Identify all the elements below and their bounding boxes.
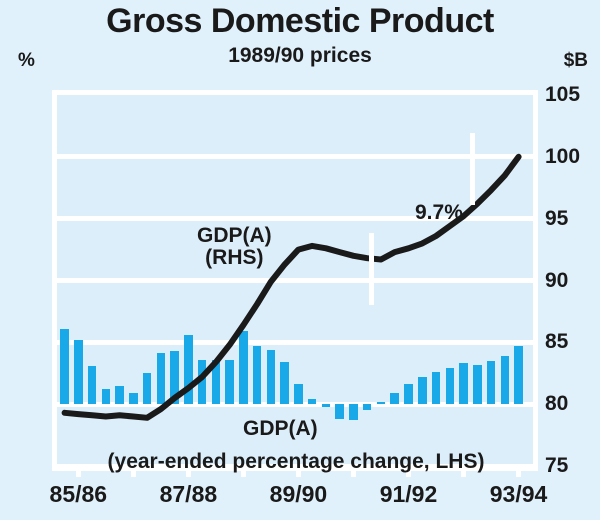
right-axis-tick-label: 90 [545, 269, 568, 293]
plot-area: GDP(A) (RHS) 9.7% GDP(A) (year-ended per… [57, 95, 533, 466]
right-axis-tick-label: 85 [545, 330, 568, 354]
line-series [57, 95, 533, 466]
annotation-gdp-rhs-line2: (RHS) [197, 247, 272, 269]
x-axis-tick-label: 91/92 [380, 481, 438, 508]
annotation-growth-value: 9.7% [415, 201, 463, 225]
chart-canvas: Gross Domestic Product 1989/90 prices % … [0, 0, 600, 520]
gdp-level-line [65, 157, 519, 418]
right-axis-tick-label: 80 [545, 392, 568, 416]
right-axis-unit: $B [564, 50, 588, 72]
chart-title: Gross Domestic Product [0, 2, 600, 41]
x-axis-tick-label: 89/90 [270, 481, 328, 508]
annotation-gdp-rhs-line1: GDP(A) [197, 225, 272, 247]
x-axis-tick-label: 87/88 [160, 481, 218, 508]
x-axis-tick-label: 85/86 [50, 481, 108, 508]
plot-frame-right [533, 90, 538, 471]
right-axis-tick-label: 75 [545, 454, 568, 478]
annotation-gdp-lhs: GDP(A) [243, 417, 318, 441]
forecast-marker-mid [369, 233, 374, 305]
right-axis-tick-label: 100 [545, 145, 580, 169]
chart-subtitle: 1989/90 prices [0, 44, 600, 68]
right-axis-tick-label: 95 [545, 207, 568, 231]
x-axis-tick-label: 93/94 [490, 481, 548, 508]
annotation-gdp-rhs: GDP(A) (RHS) [197, 225, 272, 269]
forecast-marker-end [470, 133, 475, 205]
right-axis-tick-label: 105 [545, 83, 580, 107]
left-axis-unit: % [18, 50, 35, 72]
annotation-footnote: (year-ended percentage change, LHS) [55, 450, 537, 474]
